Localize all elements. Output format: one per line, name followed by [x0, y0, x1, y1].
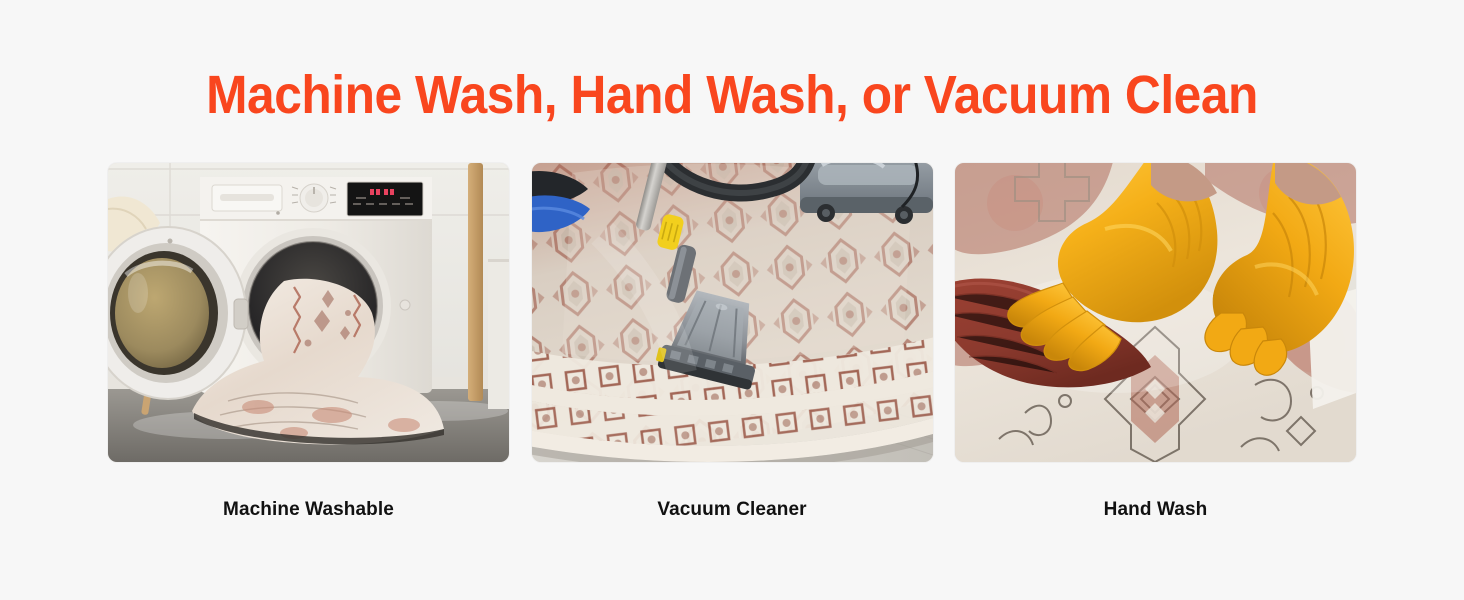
feature-card-list: Machine Washable — [108, 163, 1356, 462]
page-title: Machine Wash, Hand Wash, or Vacuum Clean — [59, 68, 1406, 122]
feature-card[interactable]: Machine Washable — [108, 163, 509, 462]
vacuum-cleaner-image — [532, 163, 933, 462]
card-caption: Machine Washable — [108, 499, 509, 522]
hand-wash-image — [955, 163, 1356, 462]
feature-card[interactable]: Hand Wash — [955, 163, 1356, 462]
washing-machine-icon — [108, 163, 509, 462]
promo-banner: Machine Wash, Hand Wash, or Vacuum Clean — [0, 0, 1464, 600]
feature-card[interactable]: Vacuum Cleaner — [532, 163, 933, 462]
card-caption: Hand Wash — [955, 499, 1356, 522]
machine-washable-image — [108, 163, 509, 462]
card-caption: Vacuum Cleaner — [532, 499, 933, 522]
hand-wash-icon — [955, 163, 1356, 462]
vacuum-cleaner-icon — [532, 163, 933, 462]
